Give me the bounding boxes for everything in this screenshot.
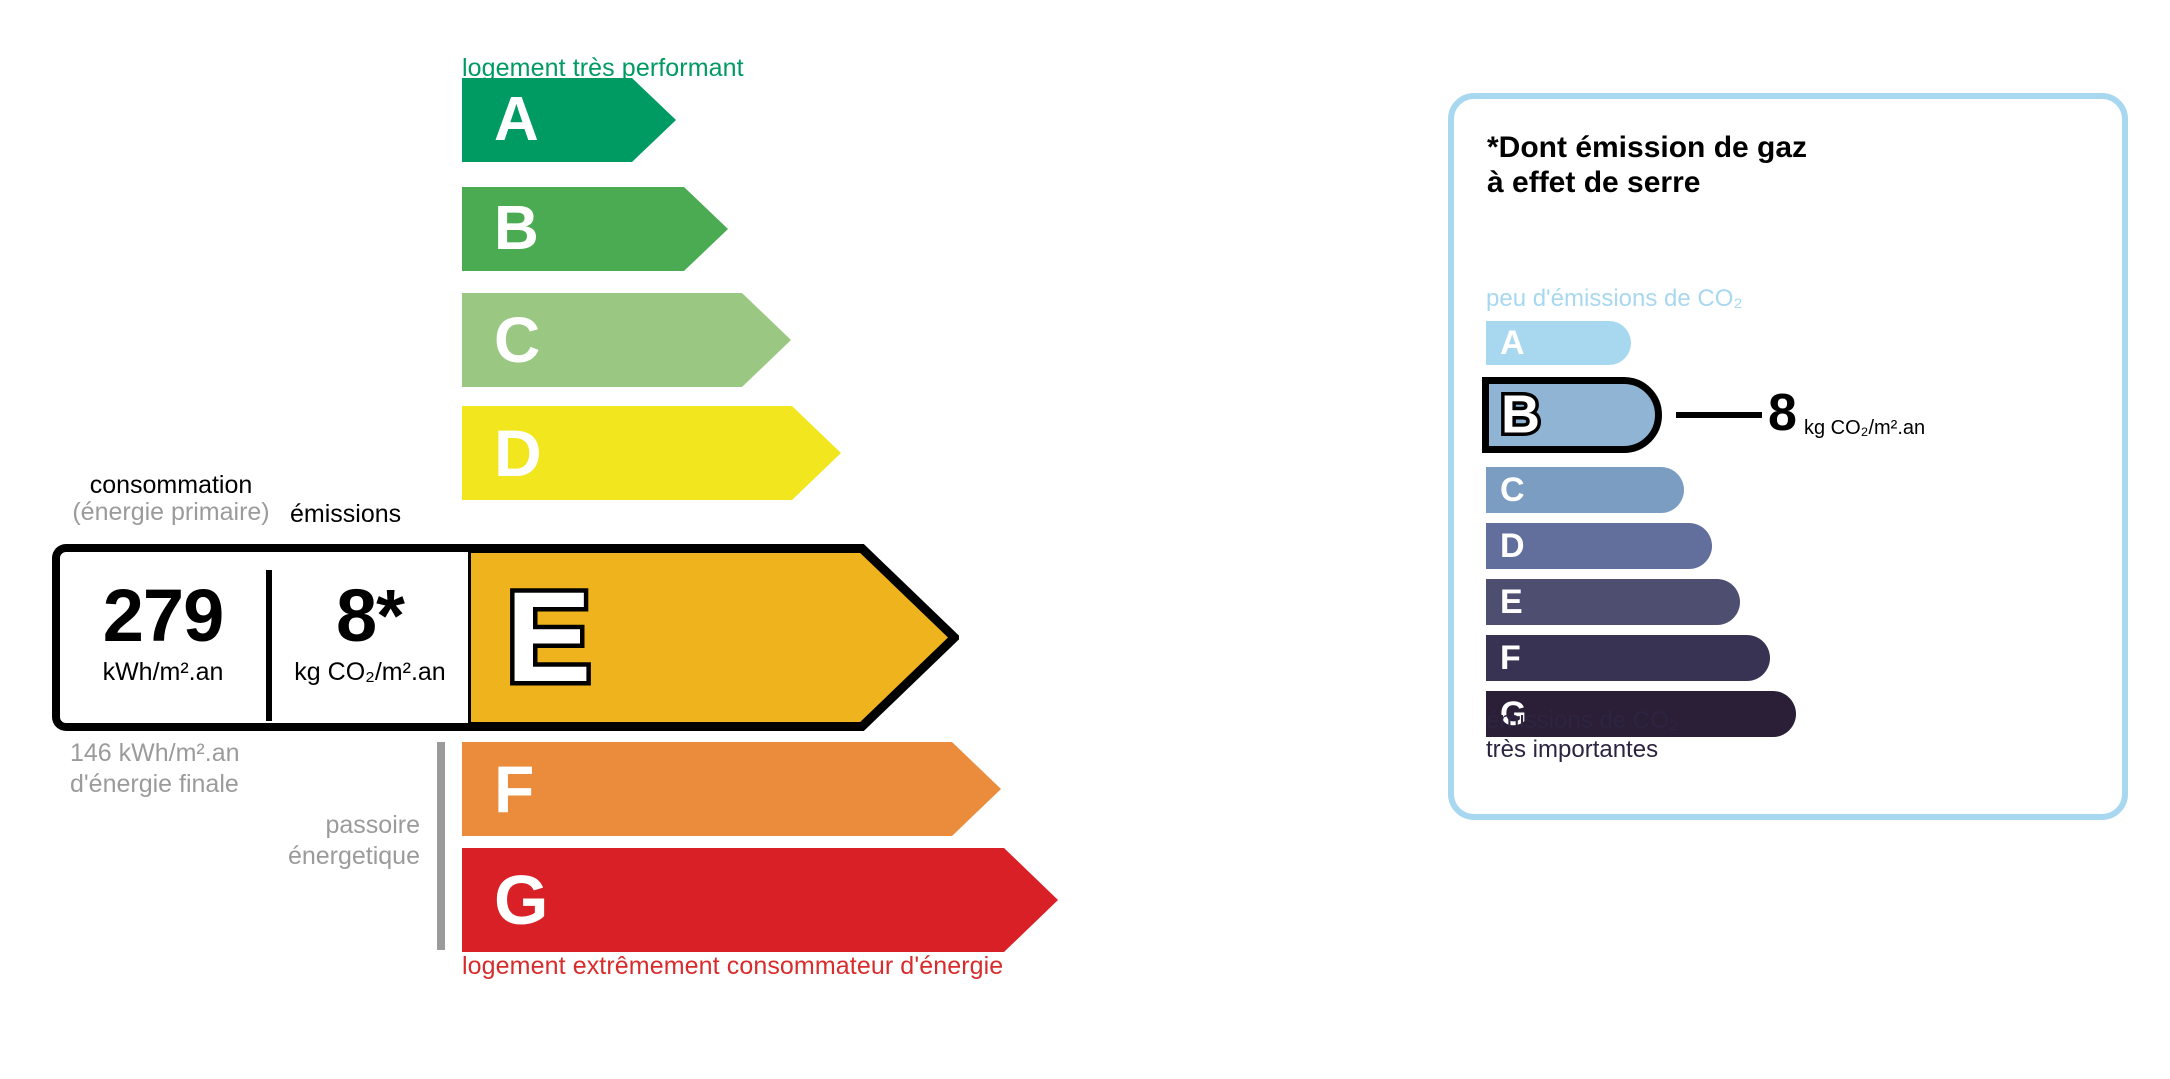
energy-performance-ladder: logement très performant ABCDEFG 279 kWh… <box>0 0 1300 1079</box>
energy-band-d: D <box>462 406 841 500</box>
energy-value-box: 279 kWh/m².an 8* kg CO₂/m².an <box>52 544 468 731</box>
energy-band-b: B <box>462 187 728 271</box>
emissions-label: émissions <box>290 500 401 529</box>
consumption-label: consommation (énergie primaire) <box>60 472 282 526</box>
primary-consumption-cell: 279 kWh/m².an <box>60 578 266 687</box>
co2-emissions-panel: *Dont émission de gaz à effet de serre p… <box>1448 93 2128 820</box>
consumption-label-main: consommation <box>90 471 253 499</box>
co2-title-line1: *Dont émission de gaz <box>1487 131 1807 164</box>
co2-bottom-label: émissions de CO₂ très importantes <box>1486 707 1678 765</box>
final-energy-note: 146 kWh/m².an d'énergie finale <box>70 738 240 799</box>
emission-unit: kg CO₂/m².an <box>272 657 468 687</box>
emission-value-cell: 8* kg CO₂/m².an <box>272 578 468 687</box>
passoire-indicator-bar <box>437 742 445 950</box>
co2-bar-f: F <box>1486 635 1770 681</box>
co2-bar-d: D <box>1486 523 1712 569</box>
energy-band-g: G <box>462 848 1058 952</box>
co2-bar-letter-e: E <box>1500 585 1523 619</box>
energy-bottom-caption: logement extrêmement consommateur d'éner… <box>462 952 1003 981</box>
co2-leader-line <box>1676 412 1762 418</box>
co2-bottom-line2: très importantes <box>1486 736 1658 763</box>
co2-bar-letter-c: C <box>1500 473 1525 507</box>
co2-bar-a: A <box>1486 321 1631 365</box>
final-energy-line1: 146 kWh/m².an <box>70 739 240 767</box>
co2-title-line2: à effet de serre <box>1487 166 1700 199</box>
co2-panel-title: *Dont émission de gaz à effet de serre <box>1487 131 1807 201</box>
dpe-diagram: logement très performant ABCDEFG 279 kWh… <box>0 0 2170 1079</box>
emission-value: 8* <box>272 578 468 653</box>
primary-consumption-value: 279 <box>60 578 266 653</box>
co2-bar-letter-d: D <box>1500 529 1525 563</box>
energy-band-c: C <box>462 293 791 387</box>
co2-value: 8 <box>1768 387 1797 439</box>
energy-band-f: F <box>462 742 1001 836</box>
co2-bottom-line1: émissions de CO₂ <box>1486 707 1678 734</box>
consumption-label-sub: (énergie primaire) <box>60 499 282 526</box>
co2-value-unit: kg CO₂/m².an <box>1804 417 1925 440</box>
passoire-line1: passoire <box>326 811 421 839</box>
energy-band-a: A <box>462 78 676 162</box>
co2-bar-letter-a: A <box>1500 326 1525 360</box>
passoire-line2: énergetique <box>288 842 420 870</box>
final-energy-line2: d'énergie finale <box>70 770 239 798</box>
energy-band-e: E <box>462 544 959 731</box>
co2-bar-b-selected: B <box>1482 377 1662 453</box>
co2-bar-e: E <box>1486 579 1740 625</box>
co2-bar-c: C <box>1486 467 1684 513</box>
primary-consumption-unit: kWh/m².an <box>60 657 266 687</box>
co2-top-label: peu d'émissions de CO₂ <box>1486 285 1743 313</box>
co2-bar-letter-b: B <box>1501 392 1540 437</box>
co2-bar-letter-f: F <box>1500 641 1521 675</box>
passoire-label: passoire énergetique <box>200 810 420 871</box>
